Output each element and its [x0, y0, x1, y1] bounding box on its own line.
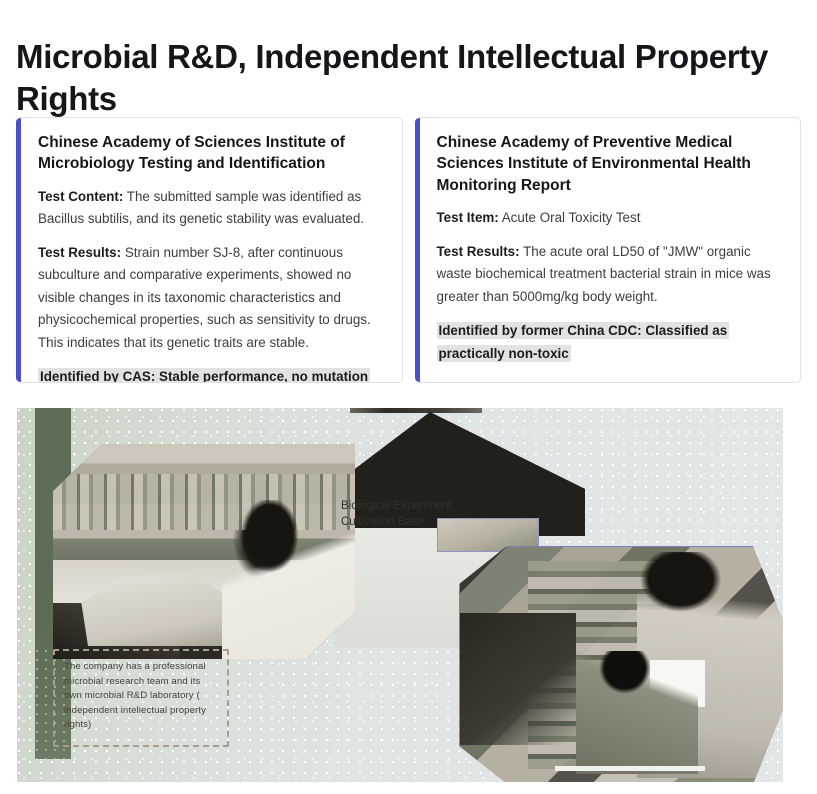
card-content: Chinese Academy of Preventive Medical Sc…	[431, 132, 785, 365]
card-field-test-results: Test Results: The acute oral LD50 of "JM…	[437, 241, 785, 309]
card-accent-bar	[415, 118, 420, 382]
callout-note-text: The company has a professional microbial…	[64, 660, 217, 733]
field-label: Test Content:	[38, 189, 123, 204]
card-accent-bar	[16, 118, 21, 382]
conclusion-badge: Identified by former China CDC: Classifi…	[437, 322, 730, 362]
callout-note-box: The company has a professional microbial…	[53, 649, 229, 747]
field-label: Test Results:	[38, 245, 121, 260]
field-value: Acute Oral Toxicity Test	[499, 210, 641, 225]
card-field-test-content: Test Content: The submitted sample was i…	[38, 186, 386, 231]
field-value: Strain number SJ-8, after continuous sub…	[38, 245, 371, 350]
conclusion-badge: Identified by CAS: Stable performance, n…	[38, 368, 370, 383]
photo-scientist-at-bench	[53, 444, 355, 659]
caption-biological-experiment-base: Biological Experiment Cultivation Base	[341, 498, 521, 531]
card-title: Chinese Academy of Preventive Medical Sc…	[437, 132, 785, 196]
report-cards-row: Chinese Academy of Sciences Institute of…	[16, 117, 801, 383]
report-card-cas: Chinese Academy of Sciences Institute of…	[16, 117, 403, 383]
card-conclusion-wrap: Identified by former China CDC: Classifi…	[437, 319, 785, 365]
card-field-test-results: Test Results: Strain number SJ-8, after …	[38, 242, 386, 355]
card-conclusion-wrap: Identified by CAS: Stable performance, n…	[38, 365, 386, 383]
card-title: Chinese Academy of Sciences Institute of…	[38, 132, 386, 175]
lab-coat-shape	[71, 573, 240, 646]
card-content: Chinese Academy of Sciences Institute of…	[32, 132, 386, 383]
photo-shadow-shape	[460, 613, 576, 745]
report-card-cdc: Chinese Academy of Preventive Medical Sc…	[415, 117, 802, 383]
field-label: Test Results:	[437, 244, 520, 259]
worker-figure-b-shape	[576, 651, 698, 774]
bench-edge-shape	[555, 766, 705, 771]
collage-top-strip	[350, 408, 482, 413]
photo-lab-workers	[459, 546, 783, 782]
card-field-test-item: Test Item: Acute Oral Toxicity Test	[437, 207, 785, 230]
page-title: Microbial R&D, Independent Intellectual …	[16, 36, 786, 120]
field-label: Test Item:	[437, 210, 499, 225]
